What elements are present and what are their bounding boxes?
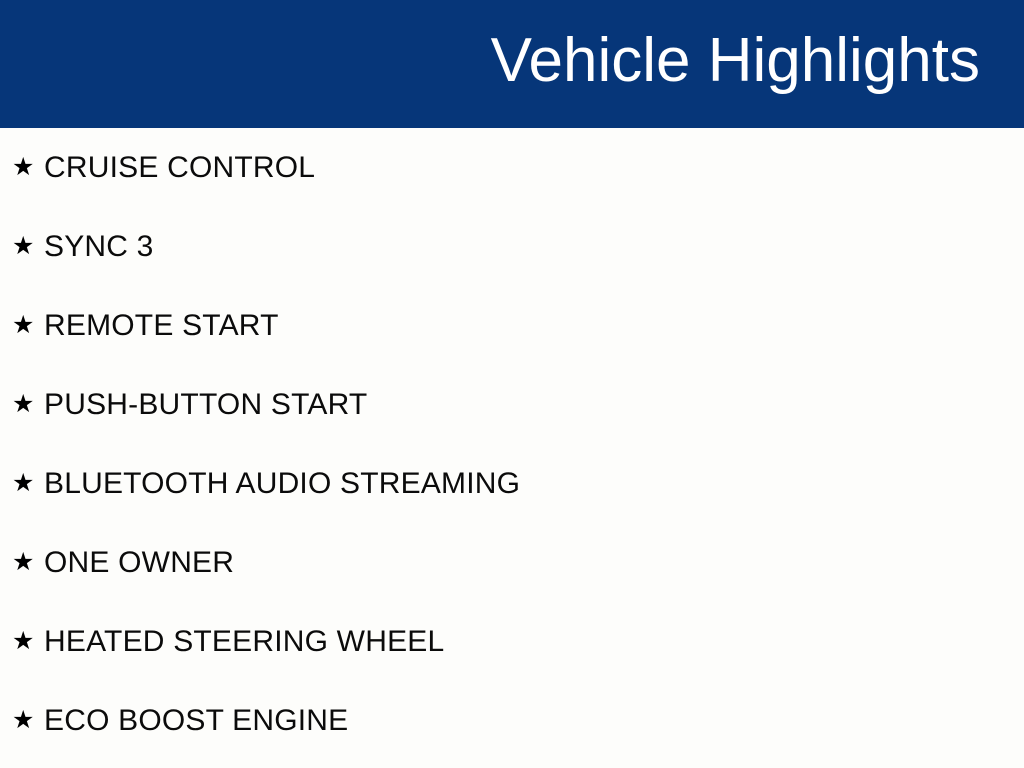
- highlight-label: ECO BOOST ENGINE: [44, 706, 348, 736]
- highlight-label: ONE OWNER: [44, 548, 234, 578]
- list-item: ★ ECO BOOST ENGINE: [0, 681, 1024, 760]
- page-title: Vehicle Highlights: [491, 30, 1024, 98]
- star-icon: ★: [12, 391, 35, 416]
- star-icon: ★: [12, 470, 35, 495]
- highlight-label: PUSH-BUTTON START: [44, 390, 367, 420]
- header-banner: Vehicle Highlights: [0, 0, 1024, 128]
- highlight-label: SYNC 3: [44, 232, 154, 262]
- list-item: ★ BLUETOOTH AUDIO STREAMING: [0, 444, 1024, 523]
- highlight-label: CRUISE CONTROL: [44, 153, 315, 183]
- star-icon: ★: [12, 707, 35, 732]
- highlight-label: HEATED STEERING WHEEL: [44, 627, 444, 657]
- list-item: ★ ONE OWNER: [0, 523, 1024, 602]
- star-icon: ★: [12, 628, 35, 653]
- vehicle-highlights-list: ★ CRUISE CONTROL ★ SYNC 3 ★ REMOTE START…: [0, 128, 1024, 760]
- highlight-label: BLUETOOTH AUDIO STREAMING: [44, 469, 520, 499]
- list-item: ★ HEATED STEERING WHEEL: [0, 602, 1024, 681]
- list-item: ★ SYNC 3: [0, 207, 1024, 286]
- star-icon: ★: [12, 233, 35, 258]
- highlight-label: REMOTE START: [44, 311, 279, 341]
- vehicle-highlights-slide: Vehicle Highlights ★ CRUISE CONTROL ★ SY…: [0, 0, 1024, 768]
- list-item: ★ CRUISE CONTROL: [0, 128, 1024, 207]
- star-icon: ★: [12, 549, 35, 574]
- star-icon: ★: [12, 312, 35, 337]
- list-item: ★ REMOTE START: [0, 286, 1024, 365]
- star-icon: ★: [12, 154, 35, 179]
- list-item: ★ PUSH-BUTTON START: [0, 365, 1024, 444]
